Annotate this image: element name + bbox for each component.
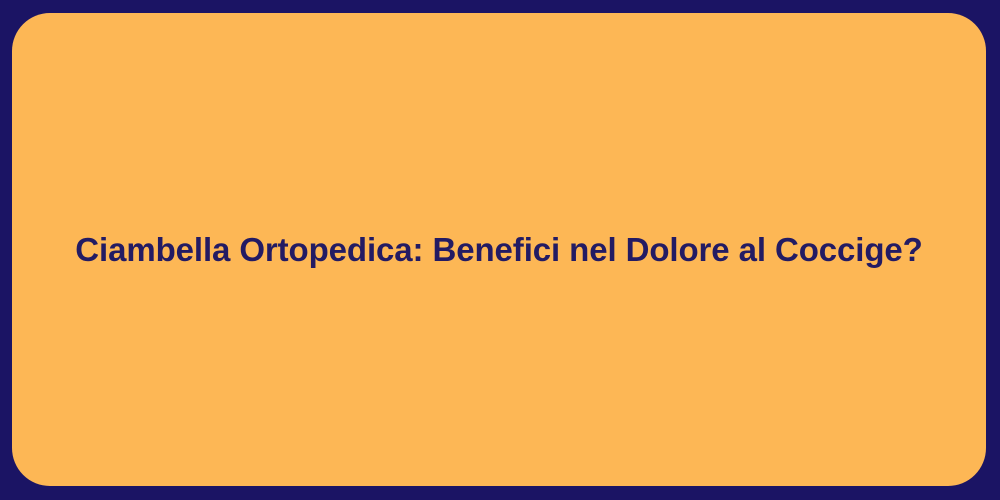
- hero-card: Ciambella Ortopedica: Benefici nel Dolor…: [12, 13, 986, 486]
- page-title: Ciambella Ortopedica: Benefici nel Dolor…: [12, 229, 986, 270]
- banner-frame: Ciambella Ortopedica: Benefici nel Dolor…: [0, 0, 1000, 500]
